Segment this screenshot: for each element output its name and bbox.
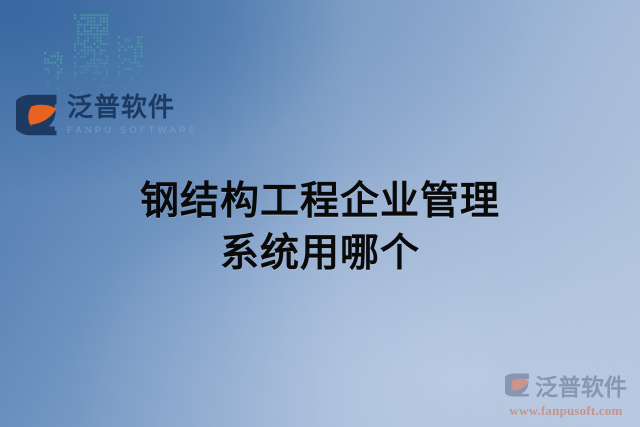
- watermark-url: www.fanpusoft.com: [509, 403, 622, 419]
- promo-banner: 泛普软件 FANPU SOFTWARE 钢结构工程企业管理 系统用哪个 泛普软件…: [0, 0, 640, 427]
- page-title: 钢结构工程企业管理 系统用哪个: [0, 176, 640, 280]
- brand-name-cn: 泛普软件: [67, 95, 198, 121]
- page-title-line-1: 钢结构工程企业管理: [0, 176, 640, 228]
- watermark-logo-row: 泛普软件: [505, 368, 627, 402]
- fanpu-hexagon-logo-icon: [16, 93, 60, 137]
- brand-lockup: 泛普软件 FANPU SOFTWARE: [16, 93, 198, 137]
- fanpu-hexagon-logo-icon: [505, 372, 531, 398]
- pixel-skyline-icon: [44, 4, 144, 96]
- page-title-line-2: 系统用哪个: [0, 228, 640, 280]
- watermark-brand-name: 泛普软件: [535, 368, 627, 402]
- brand-name-en: FANPU SOFTWARE: [67, 126, 198, 136]
- brand-text: 泛普软件 FANPU SOFTWARE: [67, 95, 198, 136]
- watermark: 泛普软件 www.fanpusoft.com: [498, 368, 634, 419]
